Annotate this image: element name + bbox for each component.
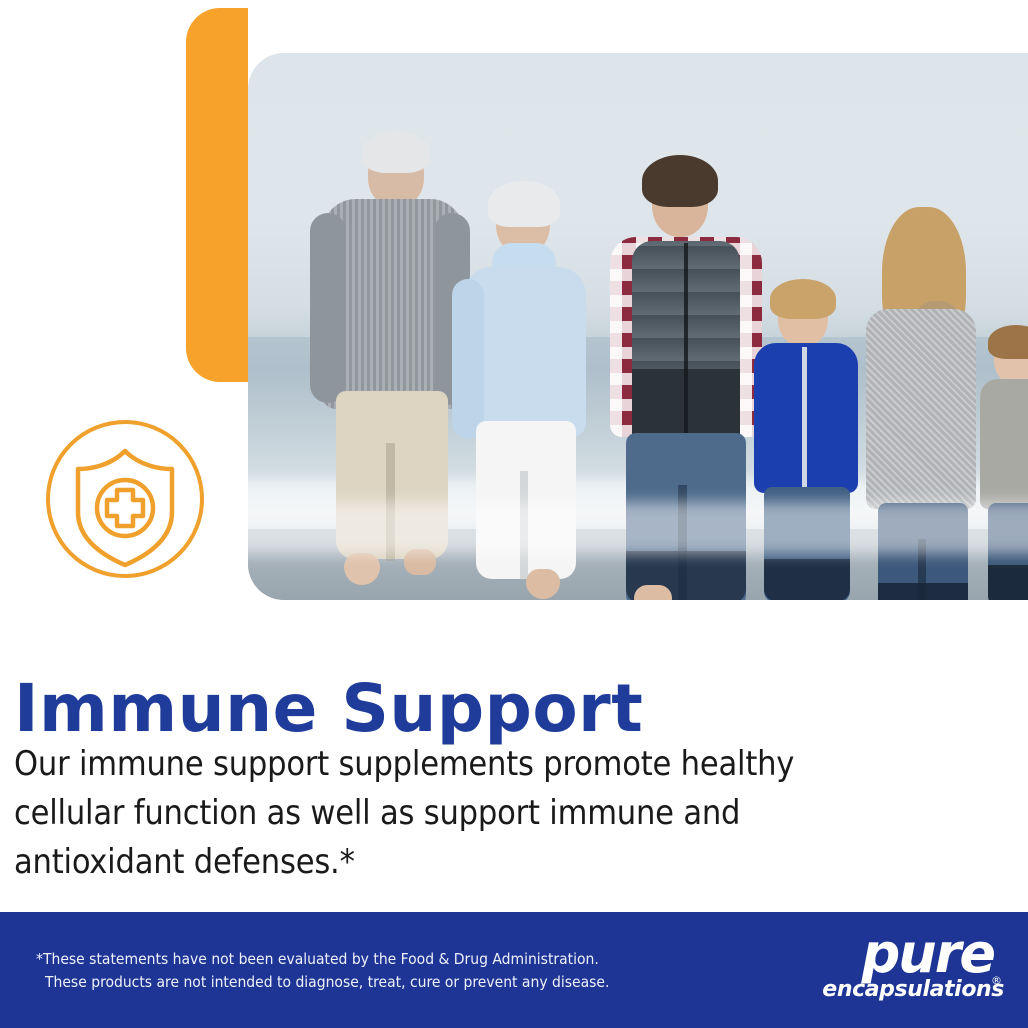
disclaimer-line-1: *These statements have not been evaluate… — [36, 948, 676, 971]
hair — [988, 325, 1028, 359]
foot-left — [344, 553, 380, 585]
jacket-zip — [802, 347, 807, 489]
left-arm — [310, 213, 346, 403]
footer-bar: *These statements have not been evaluate… — [0, 912, 1028, 1028]
splash-overlay — [248, 502, 1028, 554]
body-copy: Our immune support supplements promote h… — [14, 740, 944, 887]
body-line-1: Our immune support supplements promote h… — [14, 740, 944, 789]
shield-icon — [78, 451, 172, 565]
pure-encapsulations-logo: pure encapsulations ® — [772, 930, 1004, 1010]
medical-cross-icon — [107, 490, 143, 526]
shield-health-badge — [44, 418, 206, 580]
body-line-3: antioxidant defenses.* — [14, 838, 944, 887]
badge-ring — [48, 422, 202, 576]
foot — [634, 585, 672, 600]
curly-hair — [642, 155, 718, 207]
left-arm — [452, 279, 484, 439]
grey-cardigan — [866, 309, 976, 509]
page-title: Immune Support — [14, 676, 914, 742]
jeans-wet-cuff — [988, 565, 1028, 600]
disclaimer-line-2: These products are not intended to diagn… — [36, 971, 676, 994]
hair — [770, 279, 836, 319]
body-line-2: cellular function as well as support imm… — [14, 789, 944, 838]
logo-wordmark: pure — [772, 930, 1004, 978]
hero-image — [248, 53, 1028, 600]
jeans-wet-cuff — [764, 559, 850, 600]
logo-subwordmark: encapsulations — [772, 978, 1004, 1002]
marketing-banner-page: Immune Support Our immune support supple… — [0, 0, 1028, 1028]
person-child — [972, 315, 1028, 600]
hair — [362, 131, 430, 173]
registered-trademark-icon: ® — [991, 974, 1002, 987]
hair — [488, 181, 560, 227]
vest-zip — [684, 243, 688, 451]
grey-jacket — [980, 379, 1028, 509]
fda-disclaimer: *These statements have not been evaluate… — [36, 948, 676, 994]
